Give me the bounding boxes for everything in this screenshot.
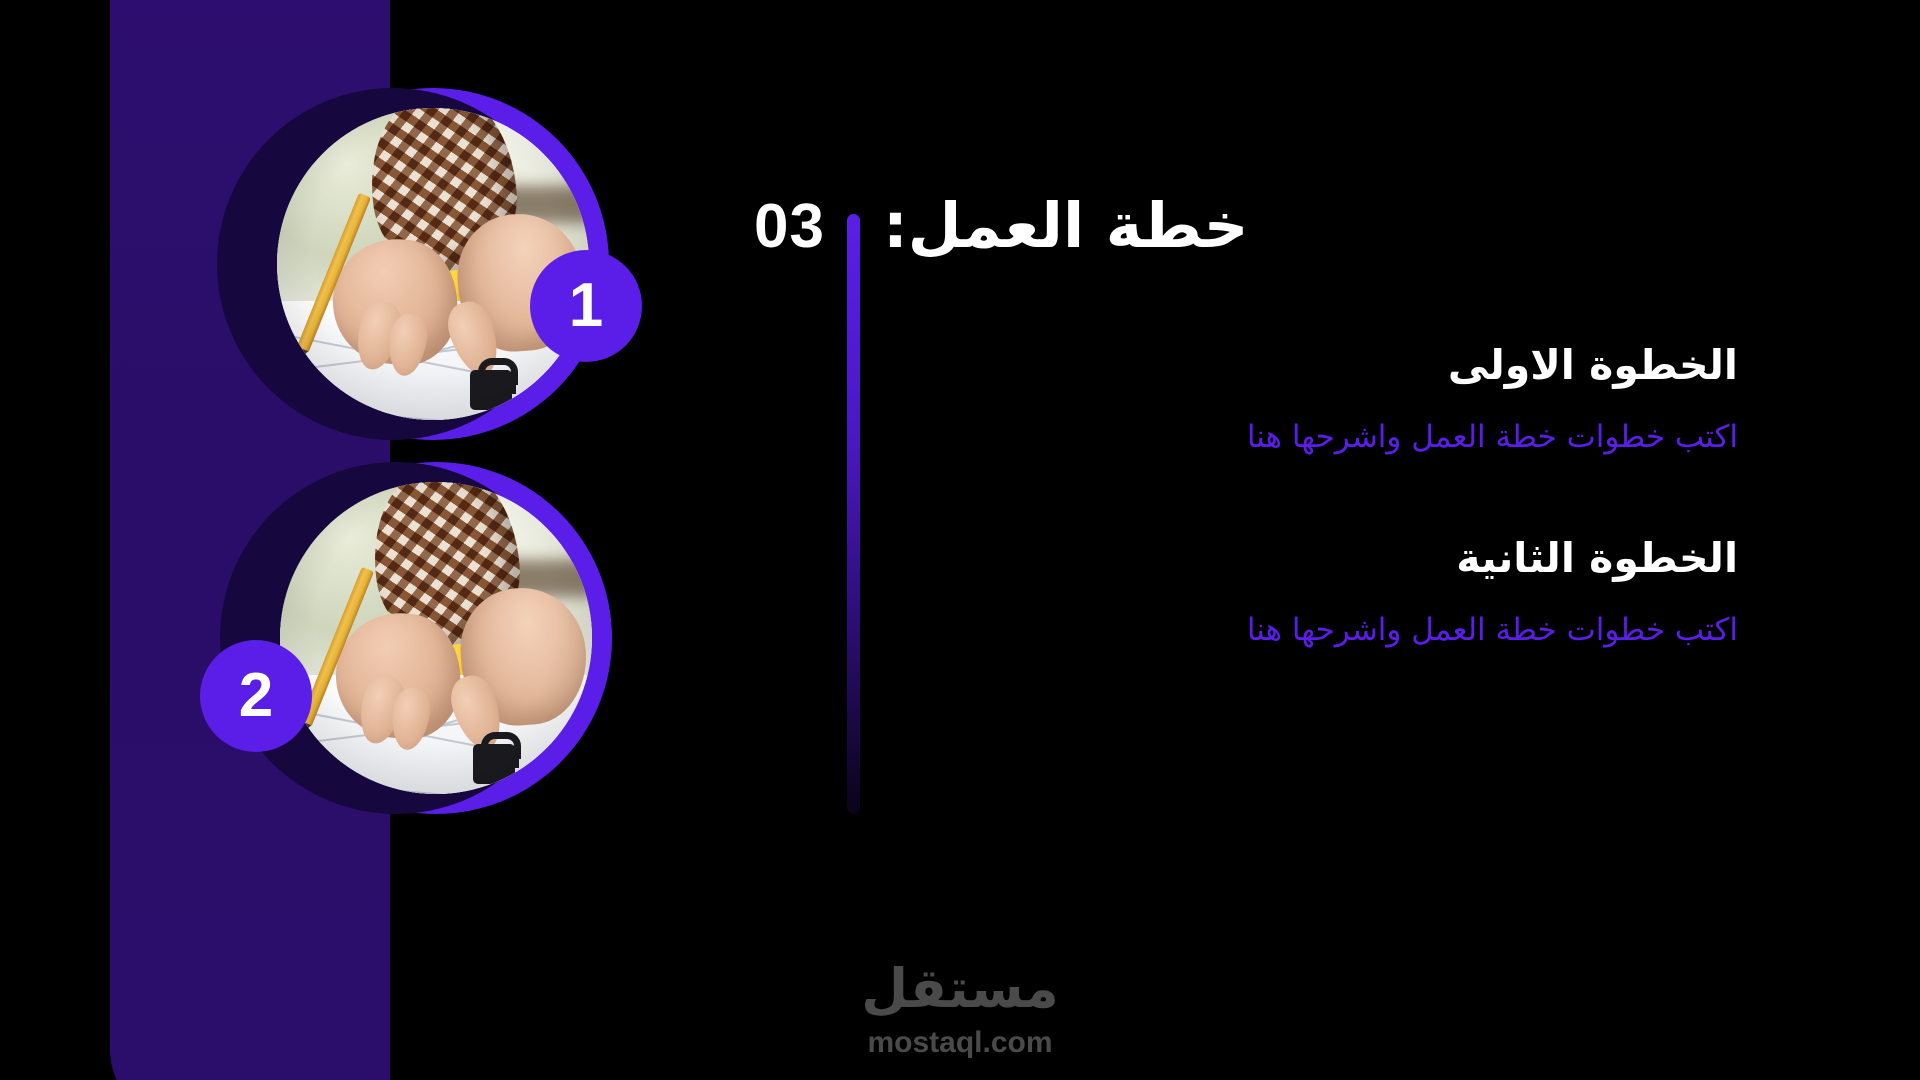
mostaql-watermark: مستقل mostaql.com bbox=[795, 962, 1125, 1058]
watermark-arabic-logo: مستقل bbox=[795, 962, 1125, 1016]
step-title-2: الخطوة الثانية bbox=[858, 533, 1738, 584]
blueprint-photo-2 bbox=[280, 482, 592, 794]
step-item-2: الخطوة الثانية اكتب خطوات خطة العمل واشر… bbox=[858, 533, 1738, 652]
step-badge-1: 1 bbox=[530, 250, 642, 362]
slide-canvas: 1 2 bbox=[0, 0, 1920, 1080]
step-body-2: اكتب خطوات خطة العمل واشرحها هنا bbox=[858, 610, 1738, 652]
step-badge-2: 2 bbox=[200, 640, 312, 752]
watermark-domain: mostaql.com bbox=[795, 1028, 1125, 1058]
blueprint-photo-1 bbox=[277, 108, 589, 420]
section-number: 03 bbox=[754, 190, 825, 258]
step-media-2: 2 bbox=[230, 450, 660, 870]
step-media-1: 1 bbox=[245, 78, 675, 498]
step-body-1: اكتب خطوات خطة العمل واشرحها هنا bbox=[858, 417, 1738, 459]
content-column: 03 خطة العمل: الخطوة الاولى اكتب خطوات خ… bbox=[754, 190, 1854, 814]
page-title: خطة العمل: bbox=[883, 190, 1249, 260]
step-title-1: الخطوة الاولى bbox=[858, 340, 1738, 391]
steps-list: الخطوة الاولى اكتب خطوات خطة العمل واشرح… bbox=[858, 340, 1738, 652]
step-item-1: الخطوة الاولى اكتب خطوات خطة العمل واشرح… bbox=[858, 340, 1738, 459]
